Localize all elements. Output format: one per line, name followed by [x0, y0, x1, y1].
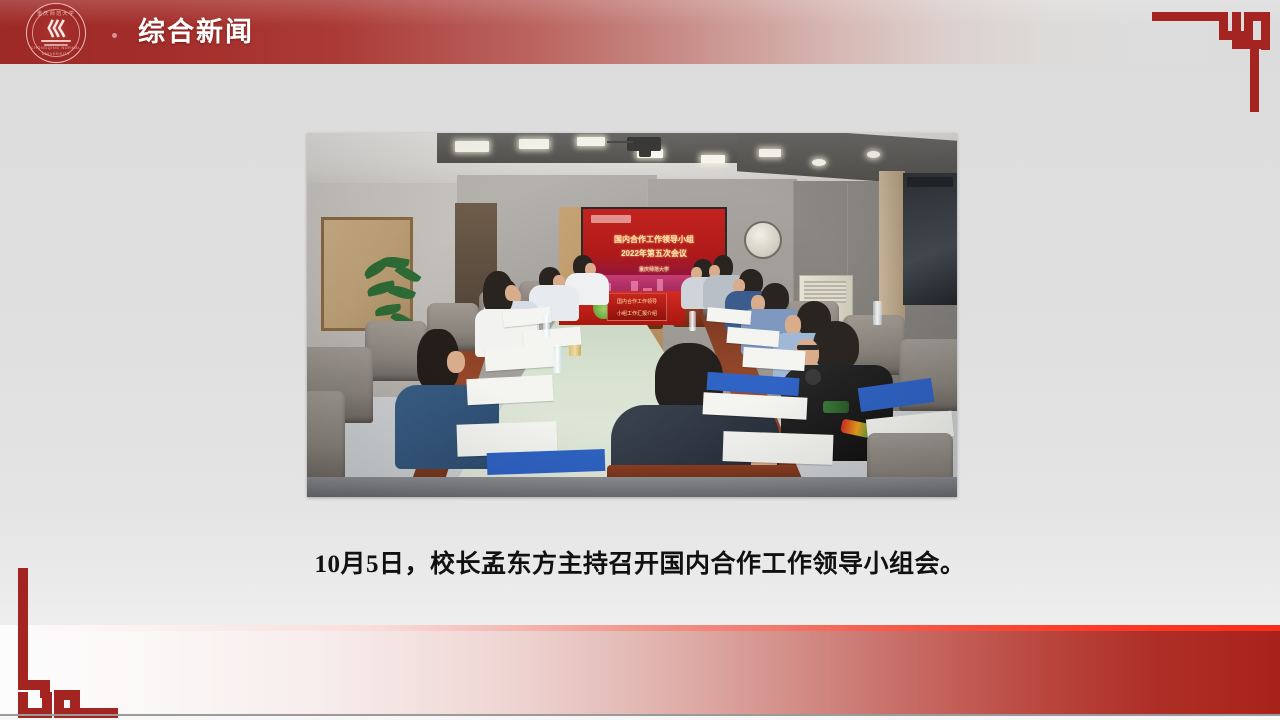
ceiling-downlight-1 [812, 159, 826, 166]
water-bottle [543, 315, 550, 337]
seal-center-glyph: 巛 [27, 20, 85, 40]
window-blind [907, 177, 953, 187]
person-face [505, 285, 518, 301]
plant-leaf [394, 263, 421, 286]
screen-title-line2: 2022年第五次会议 [583, 249, 725, 258]
ceiling-downlight-2 [867, 151, 880, 158]
table-sign-line1: 国内合作工作领导 [608, 294, 666, 306]
water-bottle [689, 311, 696, 331]
water-bottle [873, 301, 882, 325]
curtain [879, 171, 905, 321]
screen-title-line1: 国内合作工作领导小组 [583, 235, 725, 244]
window [903, 173, 957, 305]
eyeglasses-icon [797, 345, 819, 350]
document [742, 347, 805, 371]
ceiling-light-6 [759, 149, 781, 157]
header-bullet-dot [112, 33, 117, 38]
university-seal-icon: 重庆师范大学 巛 CHONGQING NORMAL UNIVERSITY [26, 3, 86, 63]
person-head [813, 321, 859, 371]
wall-clock-icon [744, 221, 782, 259]
projector-mount [639, 149, 651, 157]
person-face [785, 315, 801, 335]
water-bottle [553, 345, 562, 373]
chair-left [307, 391, 345, 483]
foreground-shadow [307, 477, 957, 497]
screen-logo [591, 215, 631, 223]
footer-band [0, 625, 1280, 715]
ceiling-light-3 [577, 137, 605, 146]
person-face [447, 351, 465, 373]
slide-root: 重庆师范大学 巛 CHONGQING NORMAL UNIVERSITY 综合新… [0, 0, 1280, 720]
table-sign: 国内合作工作领导 小组工作汇报介绍 [607, 293, 667, 321]
tea-cup [569, 345, 581, 356]
jacket-collar-trim [823, 401, 849, 413]
projector-arm [607, 141, 633, 143]
seal-book-bar-1 [41, 40, 71, 42]
ceiling-light-5 [701, 155, 725, 163]
jacket-shoulder-badge [805, 369, 821, 385]
page-title: 综合新闻 [138, 16, 254, 48]
ceiling-light-1 [455, 141, 489, 152]
plant-leaf [388, 283, 416, 303]
news-photo: 国内合作工作领导小组 2022年第五次会议 重庆师范大学 [307, 133, 957, 497]
header-bar: 重庆师范大学 巛 CHONGQING NORMAL UNIVERSITY 综合新… [0, 0, 1280, 64]
folder [487, 449, 606, 475]
document [466, 375, 553, 405]
ceiling-light-2 [519, 139, 549, 149]
table-sign-line2: 小组工作汇报介绍 [608, 306, 666, 318]
photo-caption: 10月5日，校长孟东方主持召开国内合作工作领导小组会。 [0, 548, 1280, 582]
document [723, 431, 834, 465]
bottom-divider [0, 714, 1280, 716]
air-conditioner-grill [804, 281, 846, 303]
photo-canvas: 国内合作工作领导小组 2022年第五次会议 重庆师范大学 [307, 133, 957, 497]
seal-arc-bottom-text: CHONGQING NORMAL UNIVERSITY [27, 45, 85, 57]
seal-arc-top-text: 重庆师范大学 [27, 11, 85, 17]
footer-accent-stripe [0, 625, 1280, 631]
